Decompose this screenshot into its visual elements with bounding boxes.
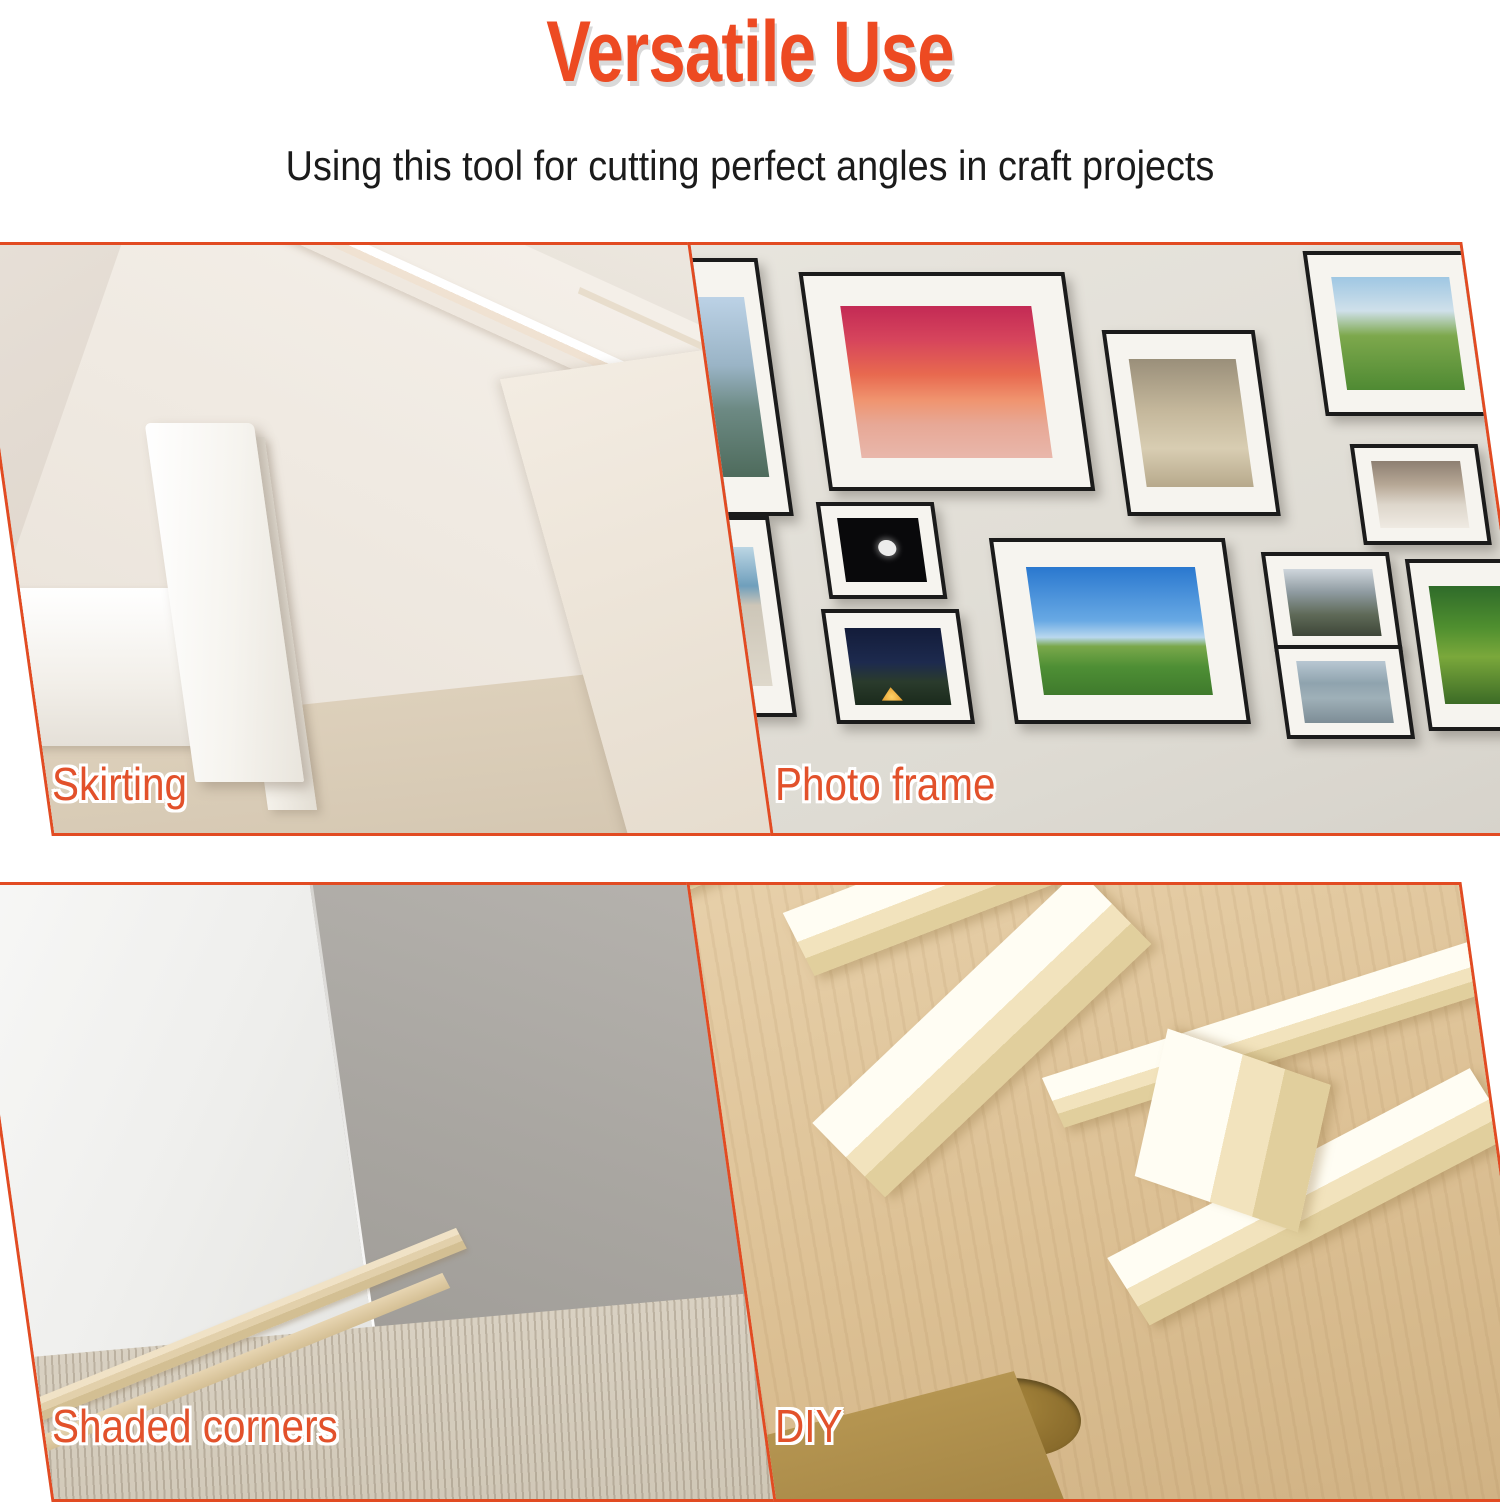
frame-misty-mountains [1302,251,1493,416]
frame-mat [821,506,944,595]
frame-mat [803,276,1090,487]
photo-moonlight [837,518,927,582]
caption-shaded-corners: Shaded corners [52,1399,338,1453]
frame-sunset-fishing-nets [798,272,1094,491]
photo-snow-field [1371,461,1469,528]
photo-green-forest [1428,586,1500,704]
frame-night-tent [821,609,975,724]
frame-mat [1106,334,1276,513]
frame-mat [1279,649,1411,734]
frame-golden-shore [1102,330,1281,517]
photo-calm-lake [1296,661,1393,722]
photo-rocky-ridge [1283,569,1381,636]
frame-mat [1307,255,1488,412]
gallery-wall [687,242,1500,836]
photo-golden-shore [1129,359,1254,488]
photo-sunset-fishing-nets [841,306,1053,458]
frame-calm-lake [1274,645,1415,738]
caption-skirting: Skirting [52,757,187,811]
photo-frame-photo [687,242,1500,836]
caption-diy: DIY [775,1399,842,1453]
frame-rocky-ridge [1261,552,1403,652]
header: Versatile Use Using this tool for cuttin… [0,0,1500,220]
page-title: Versatile Use [165,4,1335,100]
frame-moonlight [816,502,948,599]
panel-photo-frame [687,242,1500,836]
frame-mat [826,613,971,720]
frame-mat [1266,556,1399,648]
caption-photo-frame: Photo frame [775,757,996,811]
frame-snow-field [1349,444,1491,544]
photo-misty-mountains [1331,277,1465,390]
photo-bare-tree-field [1026,567,1213,696]
frame-mat [1409,563,1500,727]
frame-mat [993,542,1246,721]
frame-green-forest [1405,559,1500,731]
photo-night-tent [845,628,952,705]
frame-bare-tree-field [988,538,1250,725]
frame-mat [1354,448,1487,540]
page-subtitle: Using this tool for cutting perfect angl… [75,140,1425,192]
